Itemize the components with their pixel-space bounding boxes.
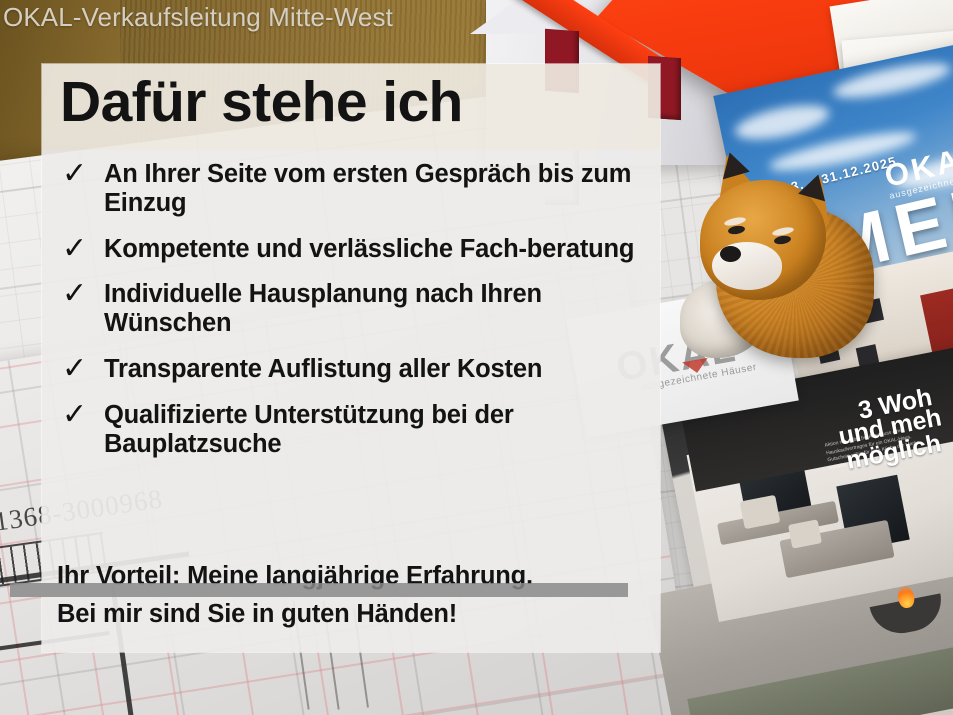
benefits-list: ✓ An Ihrer Seite vom ersten Gespräch bis… — [58, 160, 650, 476]
list-item-label: Transparente Auflistung aller Kosten — [104, 355, 542, 384]
list-item: ✓ An Ihrer Seite vom ersten Gespräch bis… — [58, 160, 650, 218]
image-caption: OKAL-Verkaufsleitung Mitte-West — [3, 2, 393, 33]
list-item-label: Kompetente und verlässliche Fach-beratun… — [104, 235, 634, 264]
panel-footer-bar — [10, 583, 628, 597]
fox-figurine — [690, 150, 880, 365]
closing-line-2: Bei mir sind Sie in guten Händen! — [57, 600, 657, 629]
closing-statement: Ihr Vorteil: Meine langjährige Erfahrung… — [57, 562, 657, 639]
list-item: ✓ Kompetente und verlässliche Fach-berat… — [58, 235, 650, 264]
check-icon: ✓ — [58, 355, 104, 383]
list-item: ✓ Transparente Auflistung aller Kosten — [58, 355, 650, 384]
fox-nose — [720, 246, 741, 262]
slide-image: 1368-3000968 15.03. – 31.12.2025 OKAL au… — [0, 0, 953, 715]
check-icon: ✓ — [58, 160, 104, 188]
check-icon: ✓ — [58, 280, 104, 308]
list-item-label: Individuelle Hausplanung nach Ihren Wüns… — [104, 280, 650, 338]
page-title: Dafür stehe ich — [60, 74, 463, 131]
check-icon: ✓ — [58, 235, 104, 263]
content-panel: Dafür stehe ich ✓ An Ihrer Seite vom ers… — [42, 64, 660, 652]
cloud — [732, 99, 832, 146]
check-icon: ✓ — [58, 401, 104, 429]
list-item-label: Qualifizierte Unterstützung bei der Baup… — [104, 401, 650, 459]
list-item-label: An Ihrer Seite vom ersten Gespräch bis z… — [104, 160, 650, 218]
list-item: ✓ Individuelle Hausplanung nach Ihren Wü… — [58, 280, 650, 338]
list-item: ✓ Qualifizierte Unterstützung bei der Ba… — [58, 401, 650, 459]
